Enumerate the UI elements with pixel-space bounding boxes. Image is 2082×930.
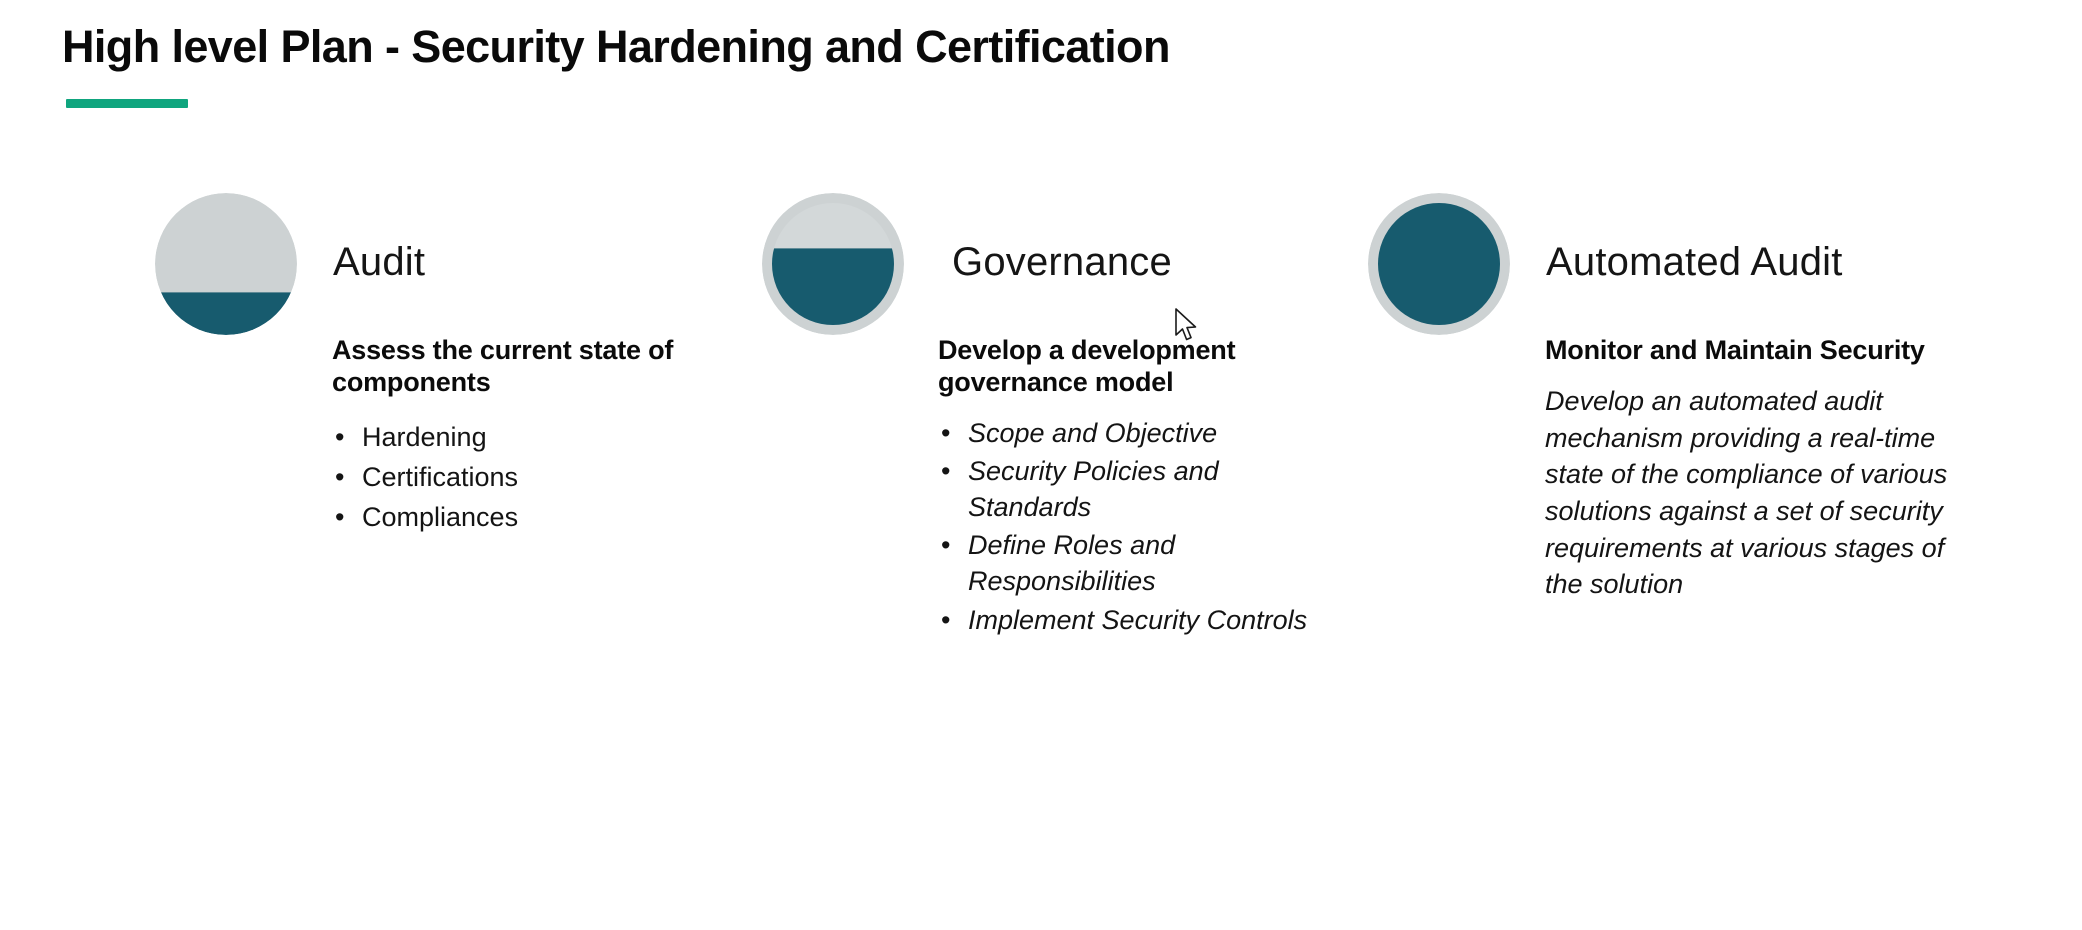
stage-title: Governance — [952, 240, 1172, 285]
bullet-icon: • — [941, 453, 950, 489]
bullet-icon: • — [335, 419, 344, 455]
bullet-icon: • — [941, 527, 950, 563]
two-thirds-filled-circle-icon — [762, 193, 904, 335]
list-item: • Scope and Objective — [938, 415, 1338, 451]
stage-body: Assess the current state of components •… — [332, 335, 732, 535]
bullet-text: Compliances — [362, 502, 518, 532]
bullet-icon: • — [941, 602, 950, 638]
stage-bullet-list: • Hardening • Certifications • Complianc… — [332, 419, 732, 536]
stage-paragraph: Develop an automated audit mechanism pro… — [1545, 383, 1955, 603]
stage-subhead: Monitor and Maintain Security — [1545, 335, 1955, 367]
stage-header: Audit — [155, 185, 715, 335]
stage-subhead: Develop a development governance model — [938, 335, 1338, 399]
bullet-icon: • — [335, 499, 344, 535]
stage-subhead: Assess the current state of components — [332, 335, 732, 399]
stage-column-automated-audit: Automated Audit Monitor and Maintain Sec… — [1368, 185, 1928, 603]
list-item: • Certifications — [332, 459, 732, 495]
bullet-text: Scope and Objective — [968, 418, 1217, 448]
stage-title: Automated Audit — [1546, 240, 1843, 285]
bullet-text: Security Policies and Standards — [968, 456, 1219, 522]
stage-progress-circle-1 — [762, 193, 904, 335]
list-item: • Define Roles and Responsibilities — [938, 527, 1338, 599]
list-item: • Implement Security Controls — [938, 602, 1338, 638]
bullet-icon: • — [941, 415, 950, 451]
stage-body: Develop a development governance model •… — [938, 335, 1338, 638]
stage-progress-circle-0 — [155, 193, 297, 335]
half-filled-circle-icon — [155, 193, 297, 335]
title-accent-bar — [66, 99, 188, 108]
full-filled-circle-icon — [1368, 193, 1510, 335]
bullet-text: Certifications — [362, 462, 518, 492]
list-item: • Hardening — [332, 419, 732, 455]
stage-header: Automated Audit — [1368, 185, 1928, 335]
bullet-text: Hardening — [362, 422, 487, 452]
stage-body: Monitor and Maintain Security Develop an… — [1545, 335, 1955, 603]
stage-header: Governance — [762, 185, 1322, 335]
stage-bullet-list: • Scope and Objective • Security Policie… — [938, 415, 1338, 638]
stage-progress-circle-2 — [1368, 193, 1510, 335]
list-item: • Compliances — [332, 499, 732, 535]
list-item: • Security Policies and Standards — [938, 453, 1338, 525]
bullet-icon: • — [335, 459, 344, 495]
stage-column-governance: Governance Develop a development governa… — [762, 185, 1322, 640]
stage-title: Audit — [333, 240, 425, 285]
page-title: High level Plan - Security Hardening and… — [62, 22, 1170, 72]
bullet-text: Implement Security Controls — [968, 605, 1307, 635]
bullet-text: Define Roles and Responsibilities — [968, 530, 1175, 596]
stage-column-audit: Audit Assess the current state of compon… — [155, 185, 715, 539]
